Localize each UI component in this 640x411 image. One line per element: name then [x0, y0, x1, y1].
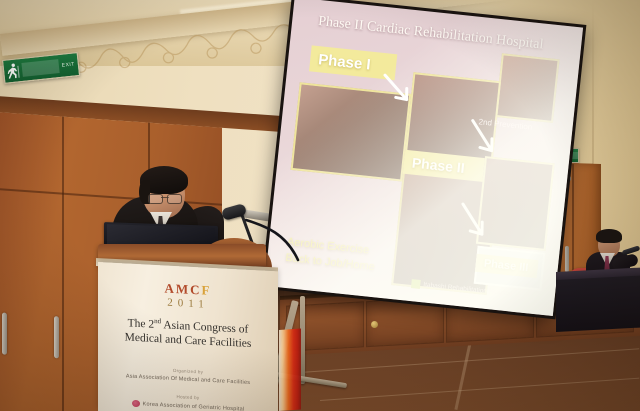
amcf-logo-f: F — [202, 282, 212, 298]
hosted-by-value: Korea Association of Geriatric Hospital — [143, 401, 245, 411]
panelist-hair — [596, 229, 622, 243]
head-table — [556, 276, 640, 332]
arrow-icon — [380, 73, 417, 110]
host-logo-icon — [132, 400, 140, 407]
door-seam — [0, 188, 222, 206]
amcf-logo-amc: AMC — [165, 280, 202, 297]
arrow-icon — [456, 202, 492, 245]
lens-left — [148, 194, 163, 204]
exit-sign-label: EXIT — [61, 61, 75, 68]
door-handle-icon[interactable] — [565, 246, 569, 272]
lens-right — [167, 194, 182, 204]
conference-photo: EXIT Phase II Cardiac Rehabilitation Hos… — [0, 0, 640, 411]
door-handle-icon[interactable] — [2, 312, 7, 354]
projection-screen: Phase II Cardiac Rehabilitation Hospital… — [261, 0, 587, 323]
door-seam — [62, 117, 64, 411]
photo-content — [497, 55, 557, 120]
exit-sign-panel — [21, 60, 59, 77]
photo-content — [478, 158, 552, 248]
arrow-icon — [465, 118, 503, 161]
podium-signage: AMCF 2011 The 2nd Asian Congress of Medi… — [98, 262, 278, 411]
door-handle-icon[interactable] — [54, 316, 59, 358]
slide-photo — [495, 53, 559, 123]
congress-suffix: Asian Congress of — [161, 319, 248, 336]
running-man-icon — [6, 62, 20, 79]
event-banner — [279, 328, 301, 411]
presentation-slide: Phase II Cardiac Rehabilitation Hospital… — [264, 0, 583, 316]
wainscot-knob — [371, 321, 378, 328]
eyeglasses-icon — [148, 194, 182, 202]
congress-prefix: The 2 — [128, 317, 155, 330]
hospital-logo-icon — [411, 279, 421, 289]
screen-frame: Phase II Cardiac Rehabilitation Hospital… — [261, 0, 586, 319]
